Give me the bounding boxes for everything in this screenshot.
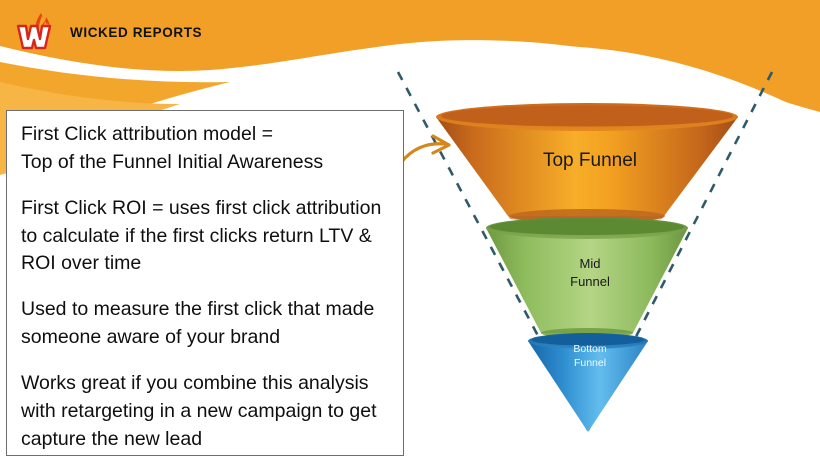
funnel-label-bottom: Bottom Funnel [380, 343, 800, 370]
funnel-diagram: Top Funnel Mid Funnel Bottom Funnel [380, 55, 800, 455]
funnel-label-mid: Mid Funnel [380, 255, 800, 290]
funnel-label-top: Top Funnel [380, 150, 800, 172]
slide-canvas: WICKED REPORTS First Click attribution m… [0, 0, 820, 470]
letter-w-glyph [18, 26, 50, 48]
description-textbox: First Click attribution model = Top of t… [6, 110, 404, 456]
textbox-paragraph-3: Used to measure the first click that mad… [21, 296, 389, 351]
textbox-paragraph-1: First Click attribution model = Top of t… [21, 121, 389, 176]
flame-w-logo-icon [14, 9, 60, 55]
textbox-paragraph-2: First Click ROI = uses first click attri… [21, 195, 389, 278]
brand-logo: WICKED REPORTS [14, 6, 264, 58]
textbox-paragraph-4: Works great if you combine this analysis… [21, 370, 389, 453]
brand-logo-text: WICKED REPORTS [70, 25, 202, 40]
